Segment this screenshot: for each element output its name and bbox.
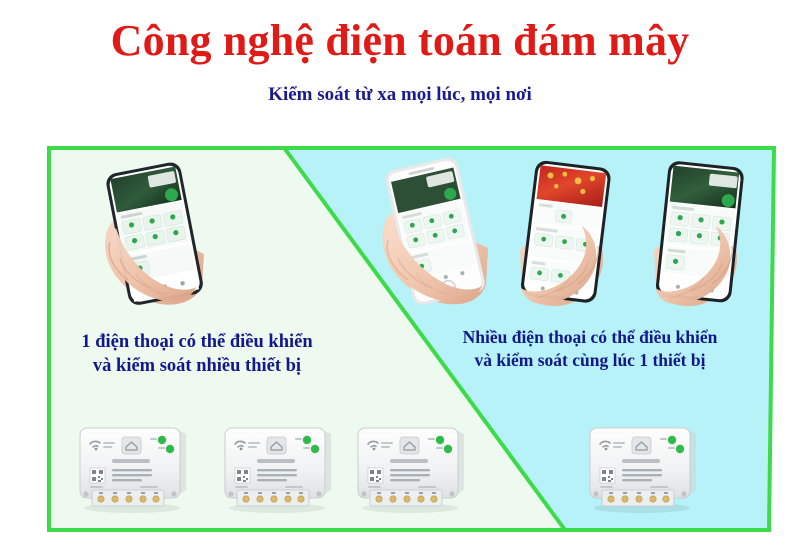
phone-android-green-2 [640, 158, 766, 308]
brand-text [112, 459, 150, 463]
smart-switch-1 [70, 418, 194, 514]
brand-text [622, 459, 660, 463]
brand-text [390, 459, 428, 463]
led-relay [166, 445, 174, 453]
phone-iphone-white [372, 156, 502, 308]
right-caption-line-2: và kiểm soát cùng lúc 1 thiết bị [420, 349, 760, 372]
smart-switch-4 [580, 418, 704, 514]
brand-text [257, 459, 295, 463]
phone-android-green [92, 158, 224, 308]
led-wifi [668, 436, 676, 444]
left-caption-line-2: và kiểm soát nhiều thiết bị [52, 354, 342, 378]
left-panel-caption: 1 điện thoại có thể điều khiển và kiểm s… [52, 330, 342, 379]
led-relay [444, 445, 452, 453]
promo-banner: Công nghệ điện toán đám mây Kiểm soát từ… [0, 0, 800, 560]
left-caption-line-1: 1 điện thoại có thể điều khiển [52, 330, 342, 354]
page-title: Công nghệ điện toán đám mây [0, 16, 800, 65]
right-caption-line-1: Nhiều điện thoại có thể điều khiển [420, 326, 760, 349]
smart-switch-3 [348, 418, 472, 514]
led-wifi [436, 436, 444, 444]
led-wifi [158, 436, 166, 444]
phone-android-red [506, 158, 632, 308]
right-panel-caption: Nhiều điện thoại có thể điều khiển và ki… [420, 326, 760, 372]
led-relay [311, 445, 319, 453]
led-relay [676, 445, 684, 453]
page-subtitle: Kiểm soát từ xa mọi lúc, mọi nơi [0, 84, 800, 107]
smart-switch-2 [215, 418, 339, 514]
led-wifi [303, 436, 311, 444]
